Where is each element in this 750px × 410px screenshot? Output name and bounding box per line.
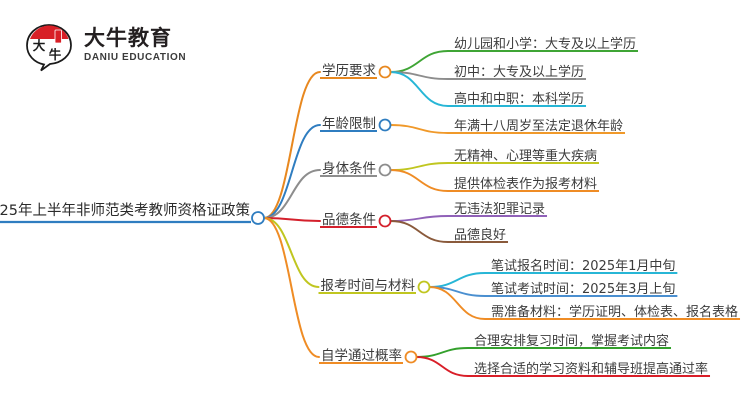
leaf-label-4-1[interactable]: 无违法犯罪记录 (454, 203, 545, 216)
branch-node-1[interactable] (380, 67, 391, 78)
branch-node-6[interactable] (406, 352, 417, 363)
leaf-label-6-1[interactable]: 合理安排复习时间，掌握考试内容 (474, 335, 669, 348)
branch-node-2[interactable] (380, 120, 391, 131)
leaf-label-5-1[interactable]: 笔试报名时间：2025年1月中旬 (491, 260, 675, 273)
branch-label-1[interactable]: 学历要求 (322, 65, 376, 79)
root-node[interactable] (252, 212, 264, 224)
leaf-label-2-1[interactable]: 年满十八周岁至法定退休年龄 (454, 120, 623, 133)
branch-label-5[interactable]: 报考时间与材料 (321, 280, 416, 294)
branch-label-2[interactable]: 年龄限制 (322, 118, 376, 132)
leaf-label-1-2[interactable]: 初中：大专及以上学历 (454, 66, 584, 79)
branch-node-3[interactable] (380, 165, 391, 176)
branch-node-5[interactable] (419, 282, 430, 293)
root-node-label[interactable]: 2025年上半年非师范类考教师资格证政策 (0, 204, 250, 219)
branch-label-4[interactable]: 品德条件 (322, 214, 376, 228)
leaf-label-3-2[interactable]: 提供体检表作为报考材料 (454, 178, 597, 191)
branch-label-6[interactable]: 自学通过概率 (321, 350, 402, 364)
leaf-label-1-3[interactable]: 高中和中职：本科学历 (454, 93, 584, 106)
leaf-label-6-2[interactable]: 选择合适的学习资料和辅导班提高通过率 (474, 363, 708, 376)
leaf-label-5-2[interactable]: 笔试考试时间：2025年3月上旬 (491, 283, 675, 296)
leaf-label-4-2[interactable]: 品德良好 (454, 229, 506, 242)
leaf-label-1-1[interactable]: 幼儿园和小学：大专及以上学历 (454, 38, 636, 51)
leaf-label-5-3[interactable]: 需准备材料：学历证明、体检表、报名表格 (491, 306, 738, 319)
leaf-label-3-1[interactable]: 无精神、心理等重大疾病 (454, 150, 597, 163)
branch-label-3[interactable]: 身体条件 (322, 163, 376, 177)
branch-node-4[interactable] (380, 216, 391, 227)
